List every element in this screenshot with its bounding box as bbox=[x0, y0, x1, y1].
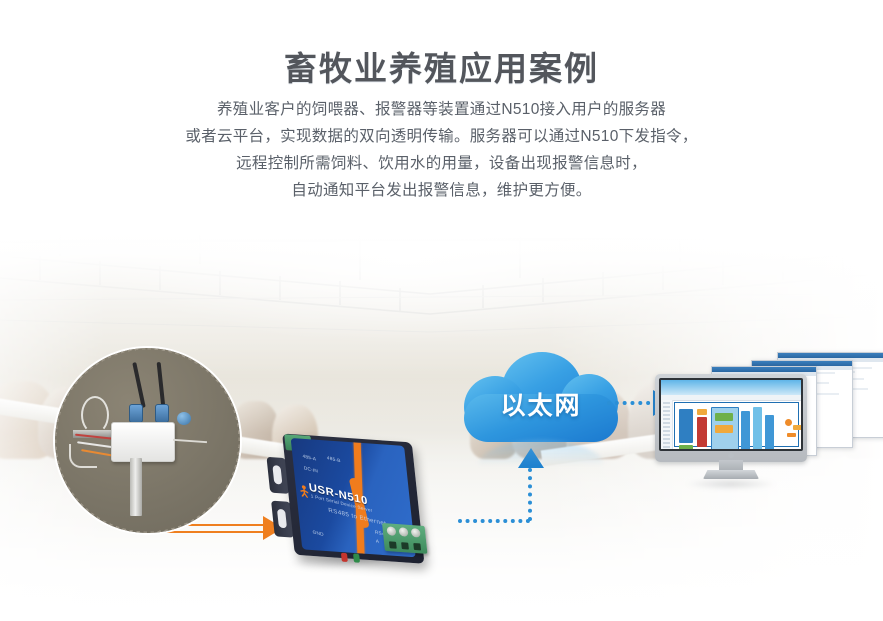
intro-line-1: 养殖业客户的饲喂器、报警器等装置通过N510接入用户的服务器 bbox=[0, 96, 883, 123]
scada-header-band bbox=[661, 380, 801, 395]
device-rs485-terminal-block bbox=[382, 523, 427, 554]
desktop-monitor bbox=[655, 374, 807, 478]
device-port-label-485a: 485-A bbox=[302, 453, 316, 461]
monitoring-display-group: 用户服务器 / 云平台监控界面 bbox=[655, 352, 883, 487]
device-port-label-485b: 485-B bbox=[327, 455, 341, 463]
magnifier-circle bbox=[55, 348, 240, 533]
device-cloud-dash-vertical bbox=[528, 468, 532, 521]
device-port-label-a: A bbox=[376, 538, 380, 544]
device-led-red bbox=[341, 553, 348, 562]
device-cloud-dash-horizontal bbox=[458, 519, 530, 523]
intro-line-2: 或者云平台，实现数据的双向透明传输。服务器可以通过N510下发指令， bbox=[0, 123, 883, 150]
scada-toolbar bbox=[661, 395, 801, 401]
scada-tree-panel bbox=[661, 400, 673, 449]
monitor-power-indicator bbox=[728, 453, 734, 458]
device-led-green bbox=[353, 553, 360, 562]
monitor-bezel bbox=[655, 374, 807, 462]
application-case-page: 畜牧业养殖应用案例 养殖业客户的饲喂器、报警器等装置通过N510接入用户的服务器… bbox=[0, 0, 883, 621]
sensor-magnifier-inset: 饲喂器/报警器现场装置 bbox=[55, 348, 240, 533]
monitor-inner-frame bbox=[659, 378, 803, 451]
intro-paragraph: 养殖业客户的饲喂器、报警器等装置通过N510接入用户的服务器 或者云平台，实现数… bbox=[0, 96, 883, 204]
ethernet-cloud: 以太网 bbox=[462, 352, 620, 447]
device-port-label-gnd: GND bbox=[312, 529, 324, 537]
intro-line-3: 远程控制所需饲料、饮用水的用量，设备出现报警信息时， bbox=[0, 150, 883, 177]
monitor-stand-base bbox=[703, 470, 759, 479]
monitor-screen bbox=[661, 380, 801, 449]
magnifier-serrated-edge bbox=[55, 348, 240, 533]
usr-n510-device: 485-A 485-B DC-IN USR-N510 1 Port Serial… bbox=[264, 416, 455, 593]
scada-process-diagram bbox=[674, 402, 799, 447]
monitor-caption: 用户服务器 / 云平台监控界面 bbox=[655, 352, 656, 353]
monitor-shadow bbox=[685, 478, 777, 490]
page-title: 畜牧业养殖应用案例 bbox=[0, 42, 883, 90]
intro-line-4: 自动通知平台发出报警信息，维护更方便。 bbox=[0, 177, 883, 204]
device-port-label-dcin: DC-IN bbox=[304, 465, 319, 473]
cloud-label: 以太网 bbox=[462, 386, 620, 422]
cloud-reflection bbox=[478, 440, 604, 466]
